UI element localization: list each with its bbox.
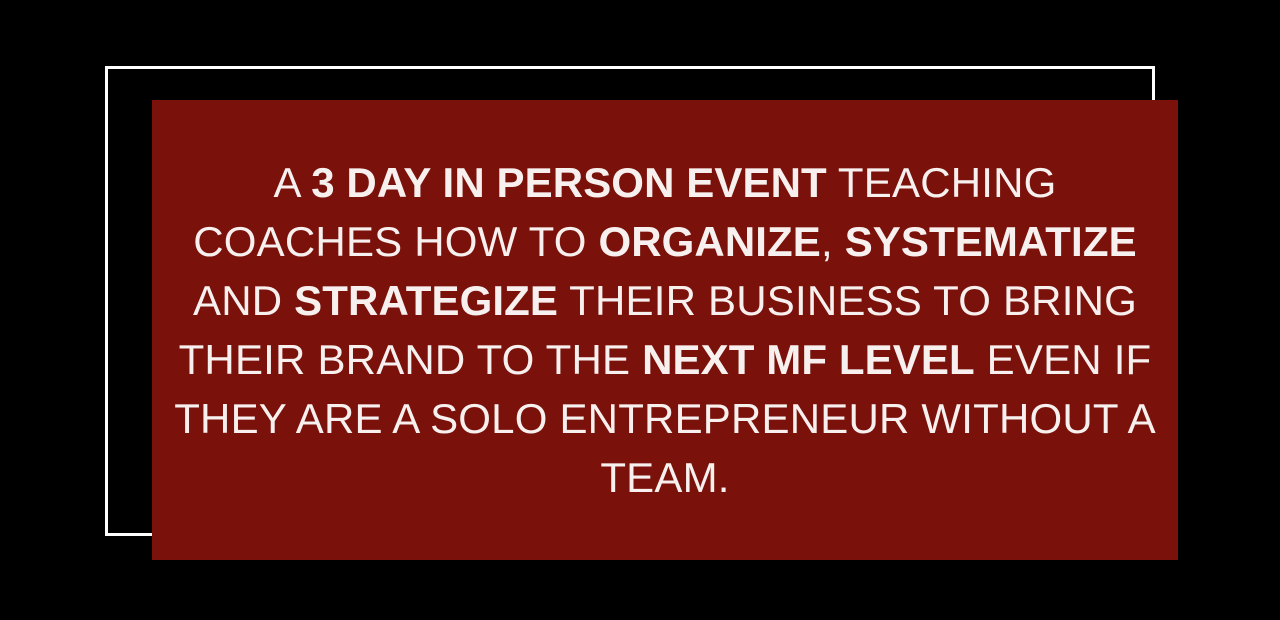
headline-run-7: STRATEGIZE: [294, 277, 558, 324]
headline-text: A 3 DAY IN PERSON EVENT TEACHING COACHES…: [152, 153, 1178, 507]
headline-run-3: ORGANIZE: [598, 218, 820, 265]
headline-run-6: AND: [193, 277, 294, 324]
headline-run-4: ,: [821, 218, 845, 265]
headline-red-panel: A 3 DAY IN PERSON EVENT TEACHING COACHES…: [152, 100, 1178, 560]
headline-run-0: A: [273, 159, 311, 206]
promo-graphic-canvas: A 3 DAY IN PERSON EVENT TEACHING COACHES…: [0, 0, 1280, 620]
headline-run-5: SYSTEMATIZE: [845, 218, 1137, 265]
headline-run-9: NEXT MF LEVEL: [642, 336, 975, 383]
headline-run-1: 3 DAY IN PERSON EVENT: [311, 159, 827, 206]
